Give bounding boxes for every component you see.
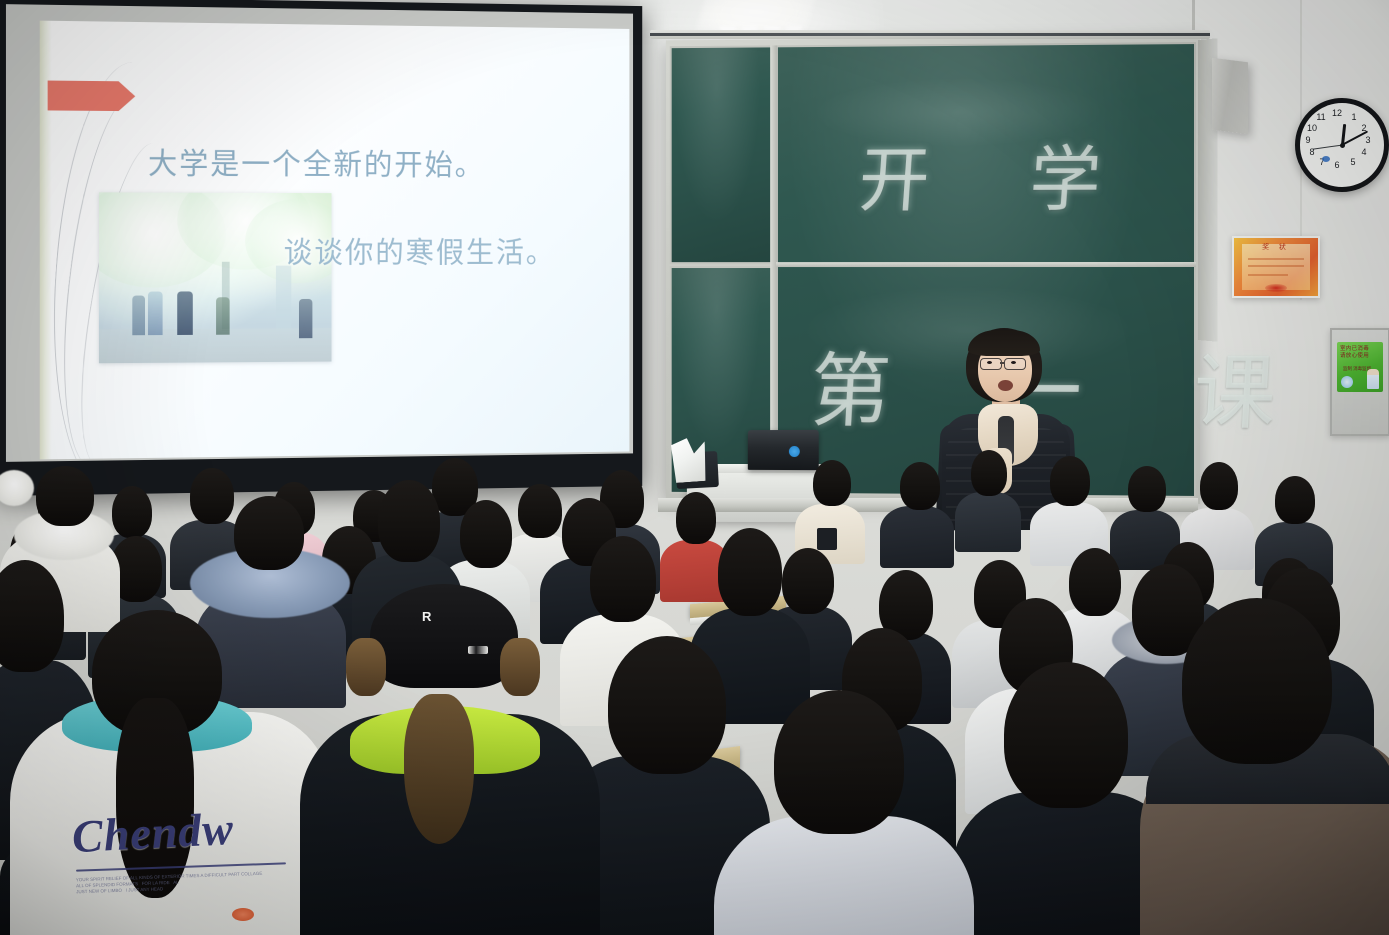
notice-line-1: 室内已消毒 (1340, 346, 1381, 353)
clock-hour-3: 3 (1362, 136, 1374, 145)
blackboard-vertical-rail (770, 45, 777, 494)
slide-photo-person (148, 292, 163, 336)
teacher-eye (987, 361, 992, 364)
slide-heading-line-2: 谈谈你的寒假生活。 (284, 228, 556, 271)
student-head (813, 460, 851, 506)
blackboard-cable (650, 33, 1210, 36)
clock-hour-1: 1 (1348, 113, 1360, 122)
clock-hour-10: 10 (1306, 124, 1318, 133)
student-head (378, 480, 440, 562)
slide-photo-pillar (276, 266, 291, 331)
slide-photo-person (216, 297, 230, 335)
student-head (460, 500, 512, 568)
certificate-rule (1248, 265, 1304, 267)
clock-hour-9: 9 (1302, 136, 1314, 145)
teacher-fringe (968, 330, 1040, 356)
hoodie-logo-text: Chendw (71, 802, 236, 863)
disinfection-notice: 室内已消毒 请放心使用 监制 消毒监督 (1330, 328, 1389, 436)
screen-surface: 大学是一个全新的开始。 谈谈你的寒假生活。 (6, 4, 633, 462)
cap-strap (468, 646, 488, 654)
student-hoodie-chendw: Chendw YOUR SPIRIT RELIEF OF ALL KINDS O… (10, 610, 330, 935)
notice-line-2: 请放心使用 (1340, 353, 1381, 360)
student-head (1050, 456, 1090, 506)
slide-photo-person (299, 299, 312, 338)
slide-photo (99, 192, 332, 363)
speaker-icon (1212, 58, 1248, 134)
student-head (1128, 466, 1166, 512)
clock-hour-4: 4 (1358, 148, 1370, 157)
baseball-cap: R (370, 584, 518, 688)
cap-logo-text: R (422, 610, 431, 623)
student (1030, 456, 1108, 556)
student (714, 690, 974, 935)
presentation-slide: 大学是一个全新的开始。 谈谈你的寒假生活。 (40, 21, 630, 460)
student (880, 462, 954, 558)
student-head (900, 462, 940, 510)
student-head (608, 636, 726, 774)
notice-person-icon (1367, 369, 1379, 389)
clock-center-pin (1340, 143, 1345, 148)
hair-side (500, 638, 540, 696)
notice-badge-icon (1341, 376, 1353, 388)
glasses-bridge (1000, 362, 1005, 364)
teacher-mouth (998, 380, 1013, 391)
hoodie-badge-icon (232, 908, 254, 921)
student-head (1200, 462, 1238, 510)
clock-brand-logo (1322, 156, 1330, 162)
blackboard-middle-rail (776, 262, 1196, 267)
clock-hour-6: 6 (1331, 161, 1343, 170)
student-brown-puffer (1140, 598, 1389, 935)
clock-face: 12 1 2 3 4 5 6 7 8 9 10 11 (1300, 103, 1384, 187)
teacher-eye (1011, 361, 1016, 364)
student-coat (955, 492, 1021, 552)
certificate-title: 奖 状 (1234, 242, 1318, 252)
clock-hour-12: 12 (1331, 109, 1343, 118)
student-head (1275, 476, 1315, 524)
student-head (971, 450, 1007, 496)
projector-screen: 大学是一个全新的开始。 谈谈你的寒假生活。 (0, 0, 642, 496)
wall-clock: 12 1 2 3 4 5 6 7 8 9 10 11 (1295, 98, 1389, 192)
student-head (774, 690, 904, 834)
ponytail (404, 694, 474, 844)
student-head (1004, 662, 1128, 808)
slide-heading-line-1: 大学是一个全新的开始。 (148, 139, 485, 184)
certificate-rule (1248, 258, 1304, 260)
hair-side (346, 638, 386, 696)
coat-label (817, 528, 837, 550)
student (955, 450, 1021, 542)
fur-hood (0, 470, 34, 506)
student-with-cap: R (300, 584, 600, 935)
student-head (234, 496, 304, 570)
clock-hour-11: 11 (1315, 113, 1327, 122)
slide-photo-person (177, 291, 193, 335)
student-head (36, 466, 94, 526)
certificate-seal (1265, 284, 1287, 292)
classroom-scene: 大学是一个全新的开始。 谈谈你的寒假生活。 (0, 0, 1389, 935)
clock-second-hand (1312, 145, 1342, 150)
blackboard-panel-left-top (670, 45, 774, 264)
student-audience: Chendw YOUR SPIRIT RELIEF OF ALL KINDS O… (0, 440, 1389, 935)
student-coat (880, 506, 954, 568)
glasses-icon (1004, 358, 1026, 370)
slide-arrow-banner (48, 81, 119, 112)
certificate-poster: 奖 状 (1232, 236, 1320, 298)
glasses-icon (980, 358, 1002, 370)
clock-hour-5: 5 (1347, 158, 1359, 167)
certificate-rule (1248, 274, 1288, 276)
student-head (1182, 598, 1332, 764)
slide-photo-person (132, 296, 145, 336)
student-head (718, 528, 782, 616)
notice-card: 室内已消毒 请放心使用 监制 消毒监督 (1337, 342, 1383, 392)
